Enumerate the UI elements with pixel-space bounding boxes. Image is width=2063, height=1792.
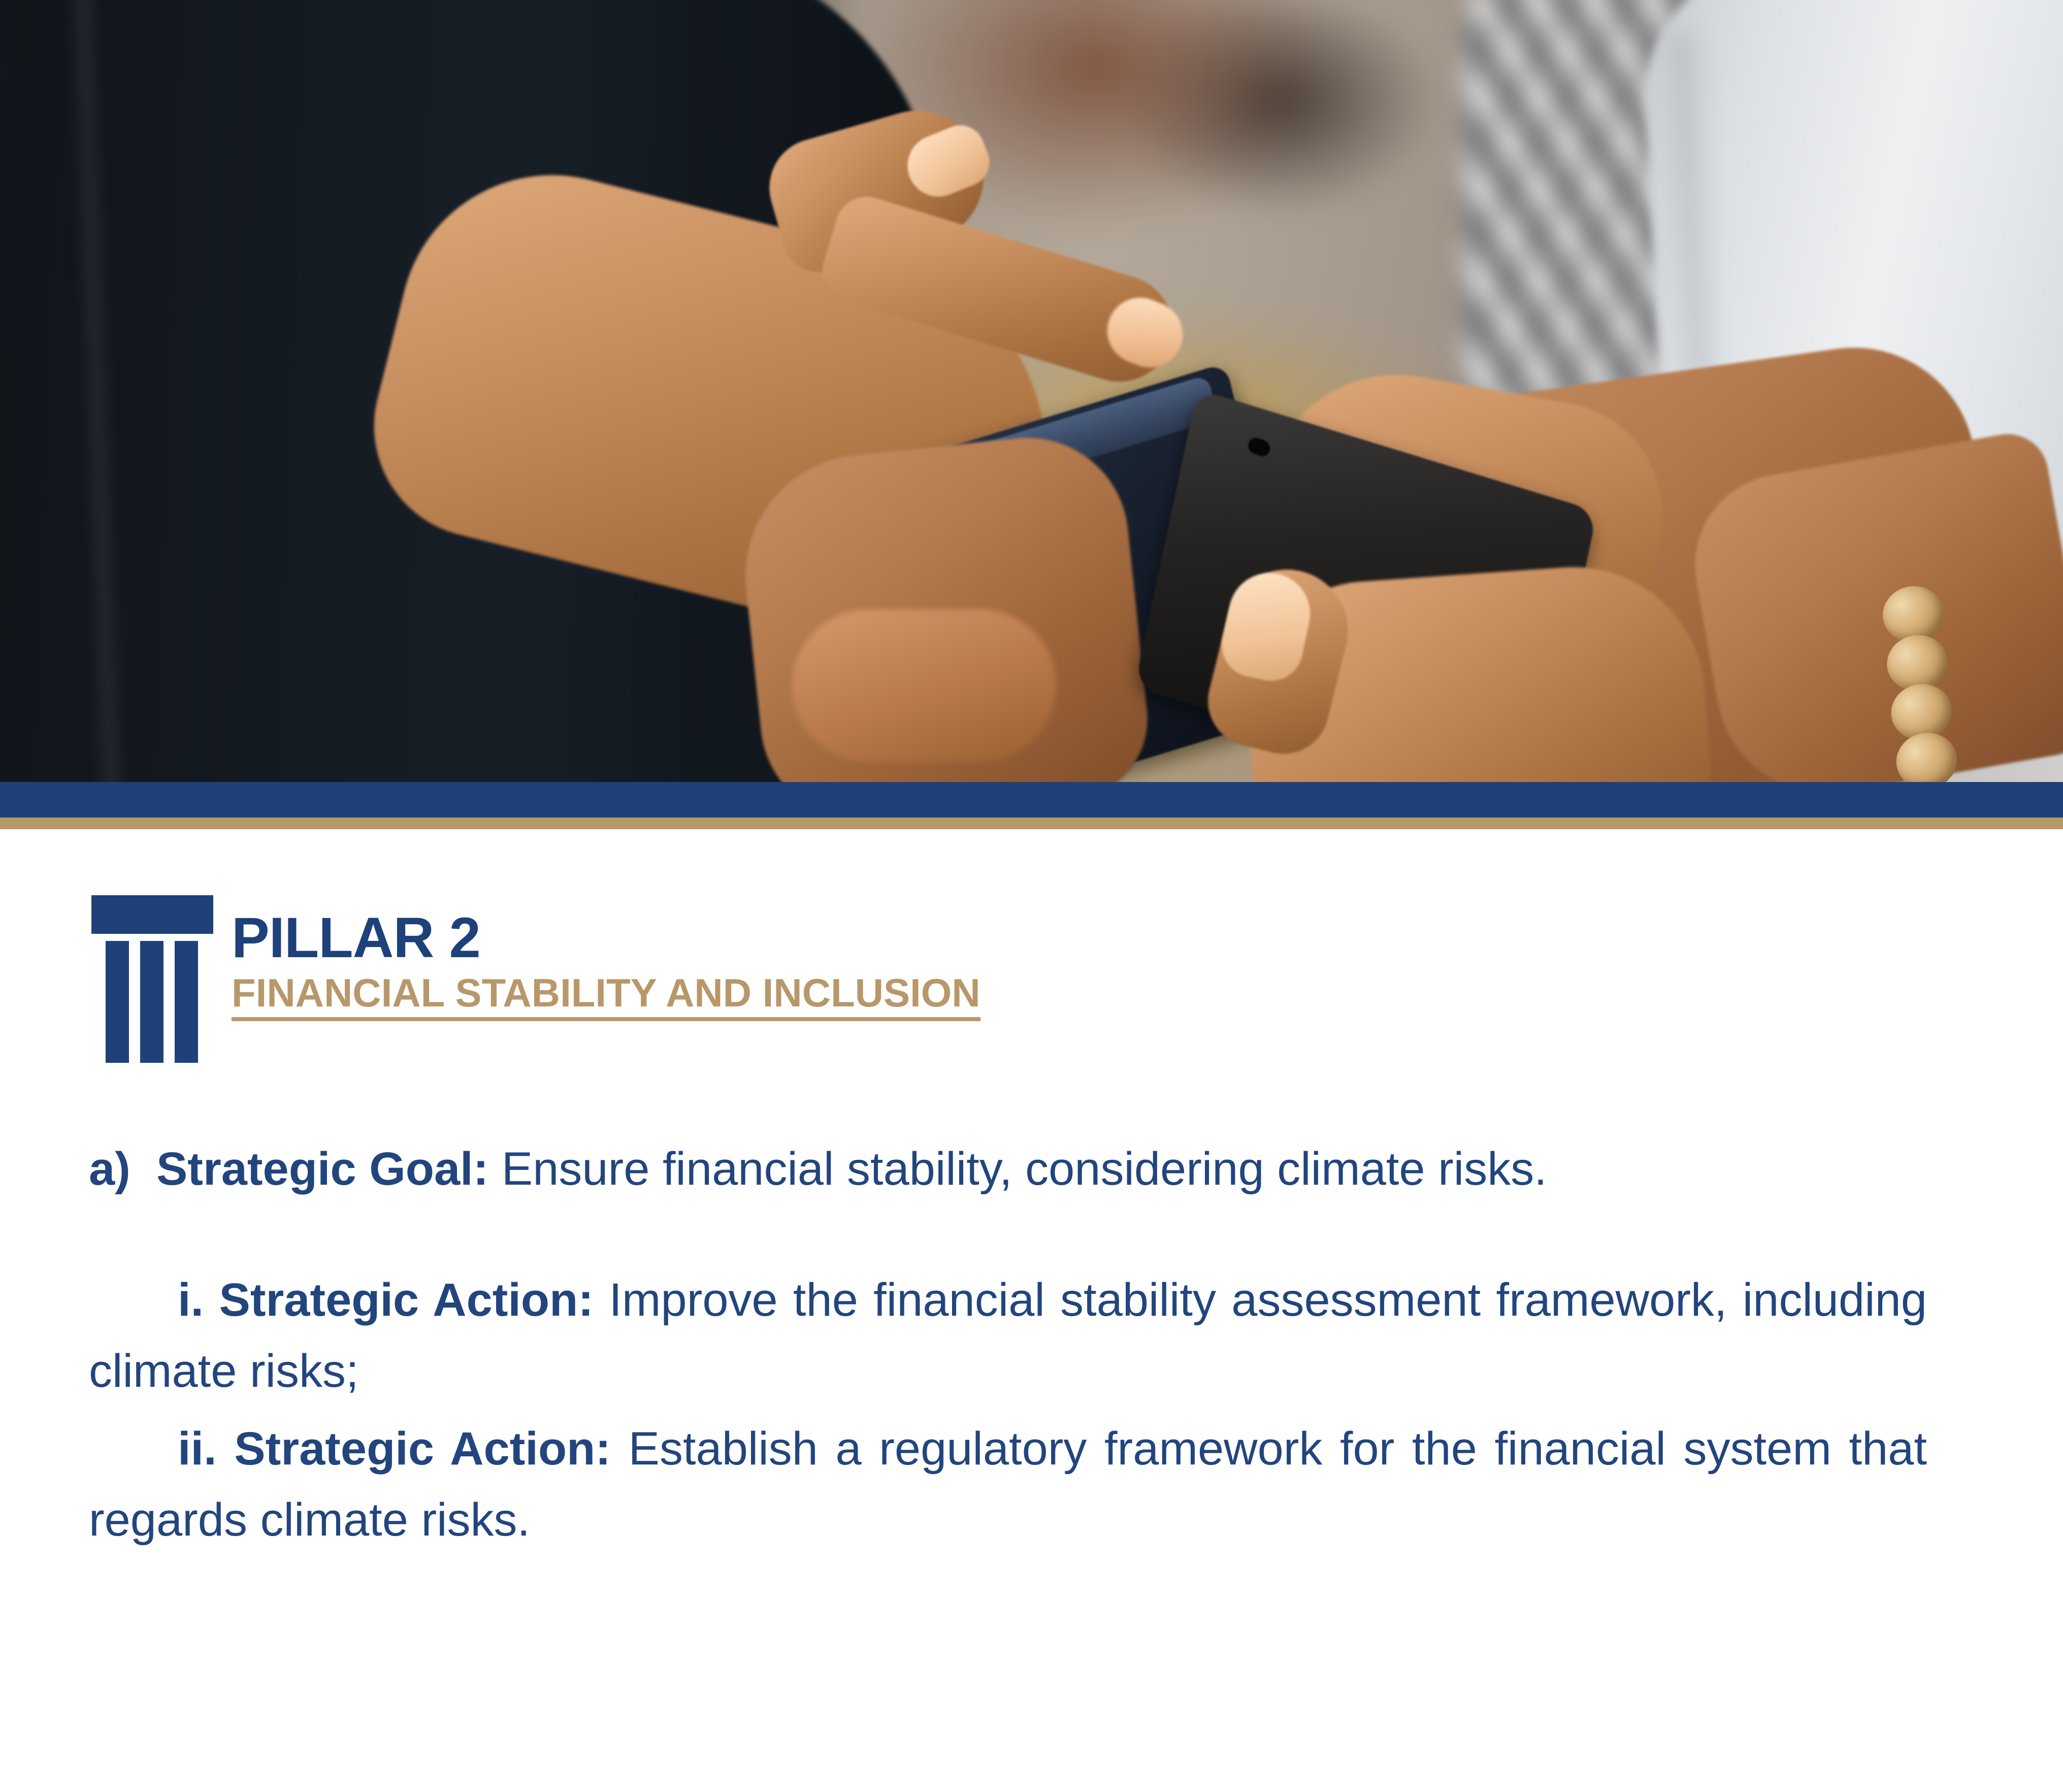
pillar-icon-column-3 [175, 941, 198, 1063]
strategic-action-1-marker: i. [178, 1274, 204, 1326]
pillar-icon-column-1 [106, 941, 129, 1063]
content-area: PILLAR 2 FINANCIAL STABILITY AND INCLUSI… [0, 829, 2063, 1792]
strategic-action-2-marker: ii. [178, 1423, 217, 1475]
pillar-icon-column-2 [140, 941, 163, 1063]
gold-divider-bar [0, 818, 2063, 829]
body-copy: a) Strategic Goal: Ensure financial stab… [89, 1134, 1927, 1556]
page-subtitle: FINANCIAL STABILITY AND INCLUSION [232, 972, 980, 1021]
slide-page: PILLAR 2 FINANCIAL STABILITY AND INCLUSI… [0, 0, 2063, 1792]
pillar-title-block: PILLAR 2 FINANCIAL STABILITY AND INCLUSI… [232, 895, 980, 1021]
smartphone-right-headphone-jack [1247, 436, 1271, 458]
pillar-icon [86, 895, 213, 1063]
person-a-knuckles [792, 609, 1056, 762]
hero-photo [0, 0, 2063, 782]
strategic-action-1-label: Strategic Action: [219, 1274, 593, 1326]
page-title: PILLAR 2 [232, 909, 980, 966]
strategic-goal-paragraph: a) Strategic Goal: Ensure financial stab… [89, 1134, 1927, 1205]
pillar-icon-cap [91, 895, 213, 934]
pillar-header: PILLAR 2 FINANCIAL STABILITY AND INCLUSI… [86, 895, 980, 1063]
strategic-goal-text: Ensure financial stability, considering … [502, 1143, 1547, 1195]
strategic-action-paragraph-1: i. Strategic Action: Improve the financi… [89, 1265, 1927, 1407]
strategic-action-2-label: Strategic Action: [234, 1423, 611, 1475]
strategic-goal-marker: a) [89, 1143, 130, 1195]
strategic-action-paragraph-2: ii. Strategic Action: Establish a regula… [89, 1414, 1927, 1556]
blue-divider-bar [0, 782, 2063, 818]
strategic-goal-label: Strategic Goal: [156, 1143, 488, 1195]
